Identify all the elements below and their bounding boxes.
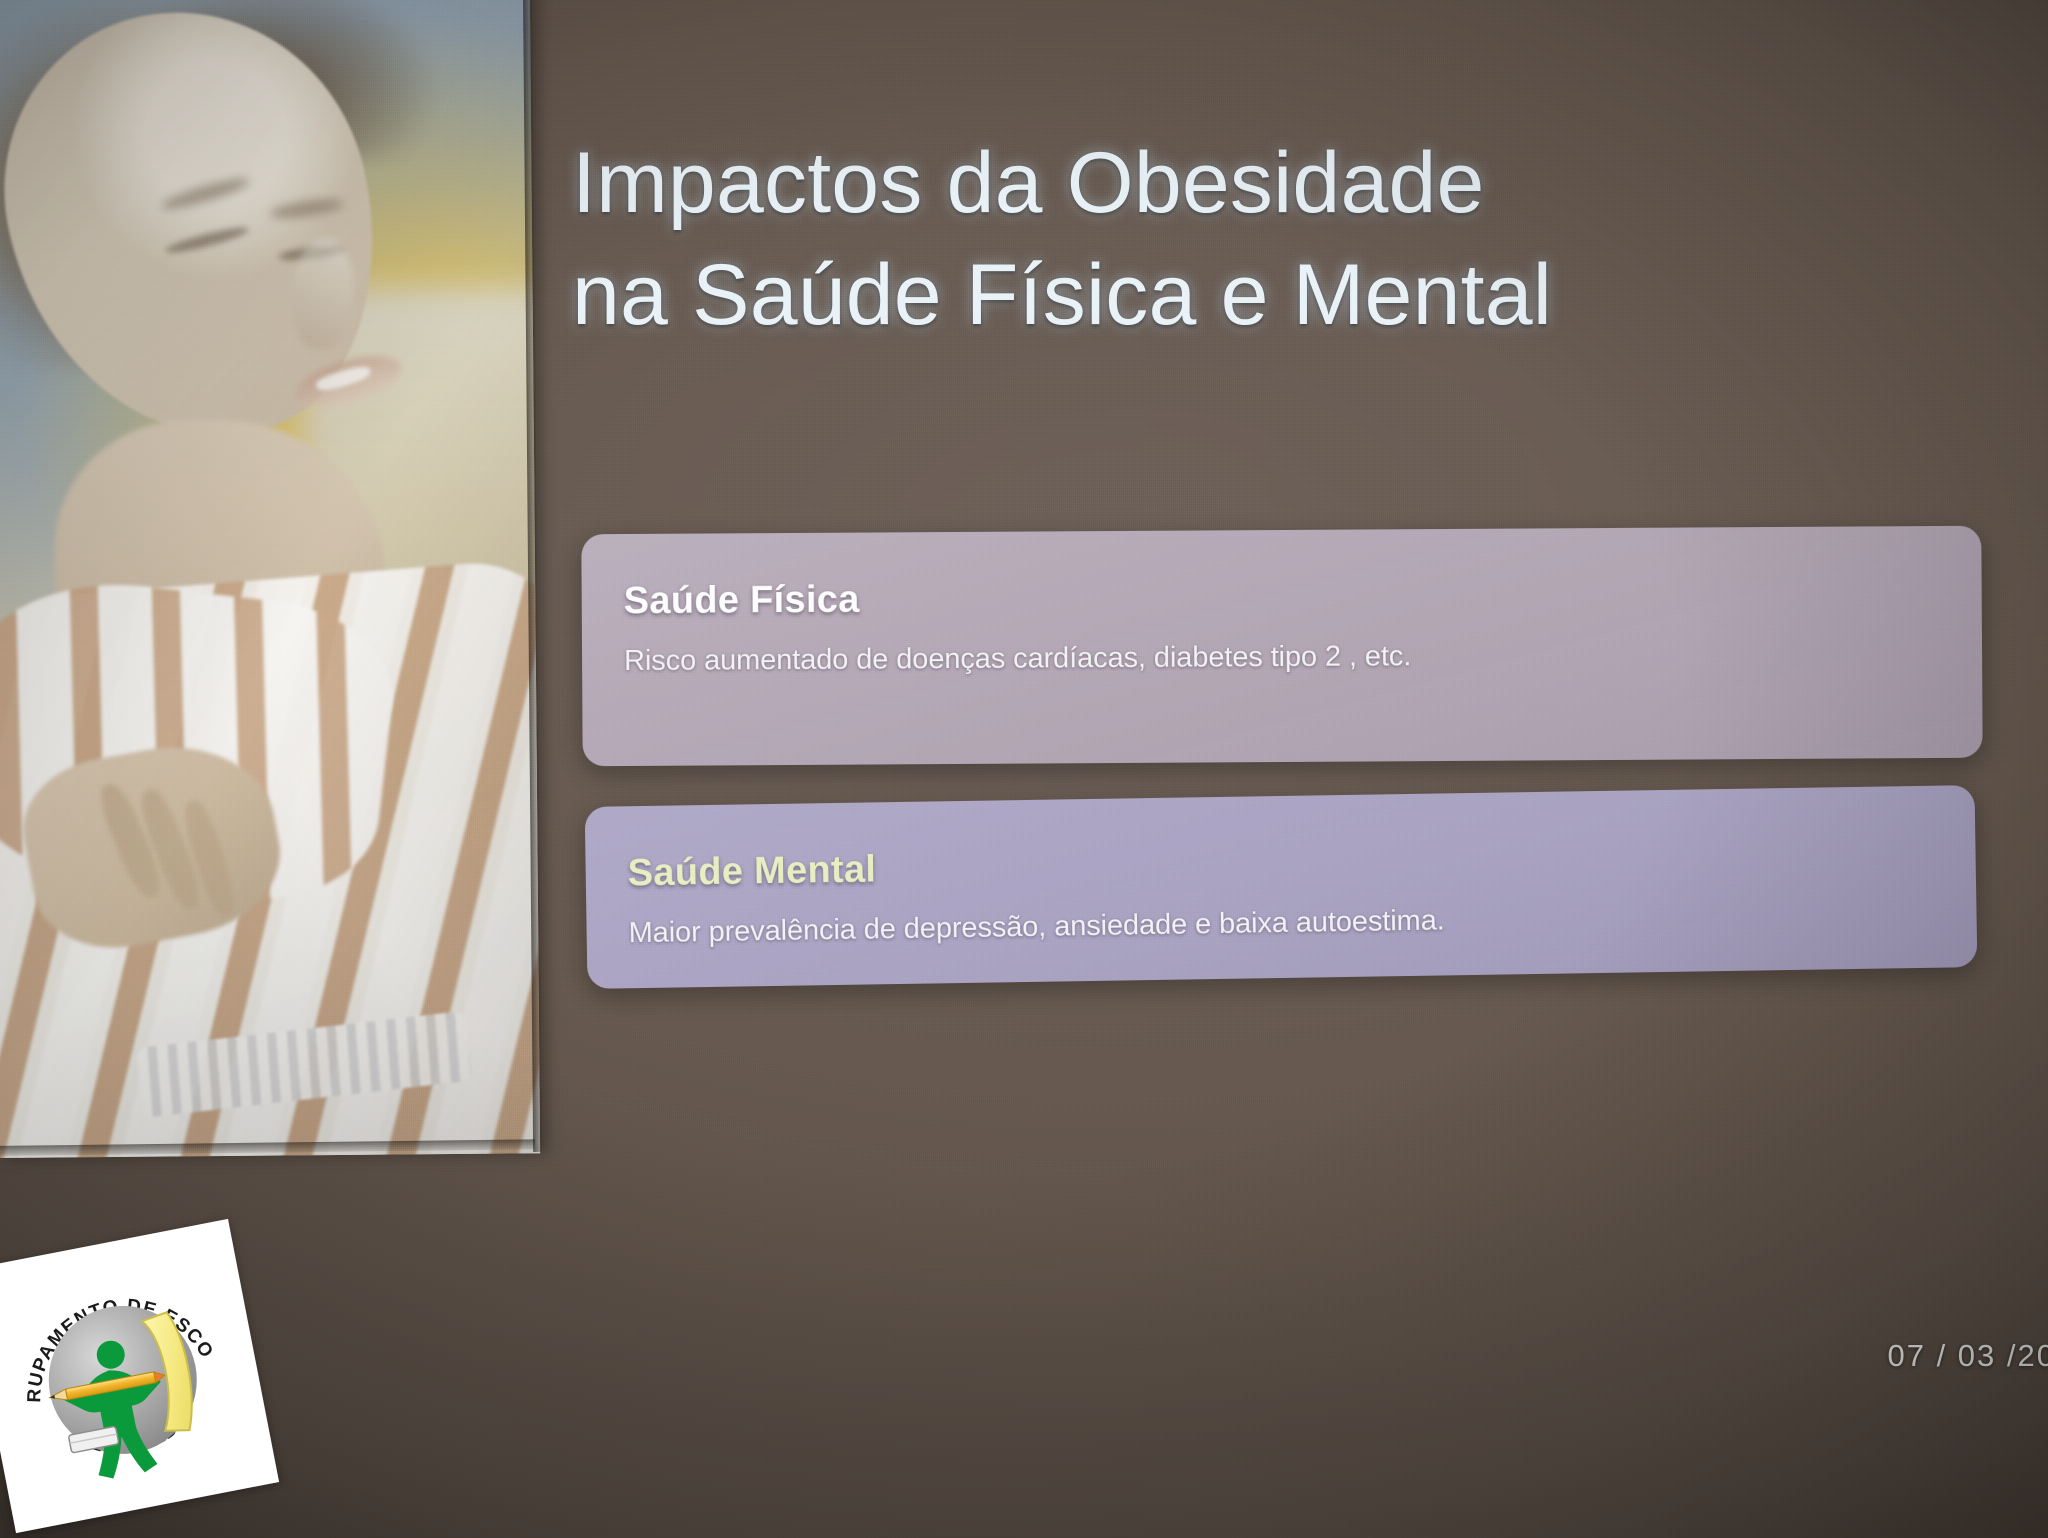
projected-slide-surface: Impactos da Obesidade na Saúde Física e … xyxy=(0,0,2048,1538)
title-line-1: Impactos da Obesidade xyxy=(572,128,1972,240)
school-logo-card: AGRUPAMENTO DE ESCOLAS DE ÁGUEDA xyxy=(0,1219,279,1533)
school-logo: AGRUPAMENTO DE ESCOLAS DE ÁGUEDA xyxy=(0,1235,263,1516)
slide-photo xyxy=(0,0,540,1158)
card-title-saude-fisica: Saúde Física xyxy=(624,572,1942,623)
photo-projector-lift xyxy=(0,0,540,1158)
card-saude-mental[interactable]: Saúde Mental Maior prevalência de depres… xyxy=(585,785,1978,989)
card-saude-fisica[interactable]: Saúde Física Risco aumentado de doenças … xyxy=(581,526,1982,767)
card-body-saude-mental: Maior prevalência de depressão, ansiedad… xyxy=(628,897,1936,951)
title-line-2: na Saúde Física e Mental xyxy=(572,240,1972,352)
date-stamp: 07 / 03 /20 xyxy=(1887,1338,2048,1374)
page-title: Impactos da Obesidade na Saúde Física e … xyxy=(572,128,1972,352)
card-body-saude-fisica: Risco aumentado de doenças cardíacas, di… xyxy=(624,637,1942,678)
card-title-saude-mental: Saúde Mental xyxy=(627,832,1936,896)
